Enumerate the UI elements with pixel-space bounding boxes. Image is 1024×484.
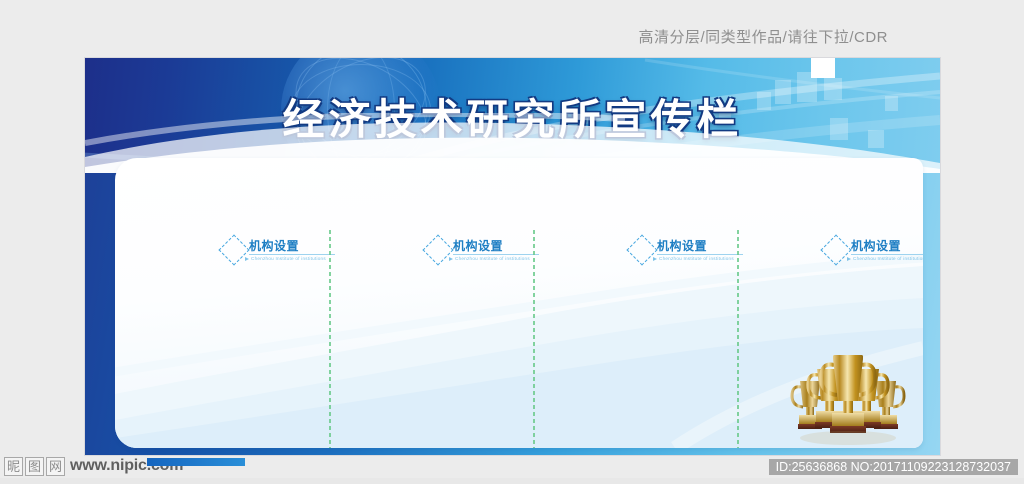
- arrow-icon: [245, 257, 249, 261]
- column-header-4: 机构设置 Chenzhou Institute of institutions: [825, 236, 923, 270]
- column-header-1: 机构设置 Chenzhou Institute of institutions: [223, 236, 413, 270]
- column-subtitle: Chenzhou Institute of institutions: [251, 256, 326, 261]
- bulletin-board: 经济技术研究所宣传栏 机构设置 Chenzhou Institute of in…: [85, 58, 940, 455]
- watermark-accent-bar: [147, 458, 245, 466]
- nipic-logo: 昵 图 网: [4, 457, 65, 476]
- arrow-icon: [449, 257, 453, 261]
- column-title: 机构设置: [453, 237, 503, 254]
- column-subtitle: Chenzhou Institute of institutions: [853, 256, 923, 261]
- content-panel: 机构设置 Chenzhou Institute of institutions …: [115, 158, 923, 448]
- column-subtitle: Chenzhou Institute of institutions: [659, 256, 734, 261]
- column-title: 机构设置: [851, 237, 901, 254]
- column-header-2: 机构设置 Chenzhou Institute of institutions: [427, 236, 617, 270]
- gold-trophies-image: [787, 353, 909, 448]
- arrow-icon: [847, 257, 851, 261]
- column-title: 机构设置: [657, 237, 707, 254]
- column-divider: [533, 230, 535, 448]
- column-underline: [249, 254, 335, 255]
- arrow-icon: [653, 257, 657, 261]
- board-banner: 经济技术研究所宣传栏: [85, 58, 940, 173]
- logo-char-1: 昵: [4, 457, 23, 476]
- column-subtitle: Chenzhou Institute of institutions: [455, 256, 530, 261]
- logo-char-3: 网: [46, 457, 65, 476]
- logo-char-2: 图: [25, 457, 44, 476]
- watermark-bar: 昵 图 网 www.nipic.com ID:25636868 NO:20171…: [0, 455, 1024, 484]
- column-divider: [737, 230, 739, 448]
- column-underline: [657, 254, 743, 255]
- top-caption: 高清分层/同类型作品/请往下拉/CDR: [638, 26, 888, 47]
- column-title: 机构设置: [249, 237, 299, 254]
- watermark-ghost-strip: [0, 478, 1024, 484]
- column-underline: [453, 254, 539, 255]
- column-underline: [851, 254, 923, 255]
- watermark-id-text: ID:25636868 NO:20171109223128732037: [769, 459, 1018, 475]
- column-divider: [329, 230, 331, 448]
- column-header-3: 机构设置 Chenzhou Institute of institutions: [631, 236, 821, 270]
